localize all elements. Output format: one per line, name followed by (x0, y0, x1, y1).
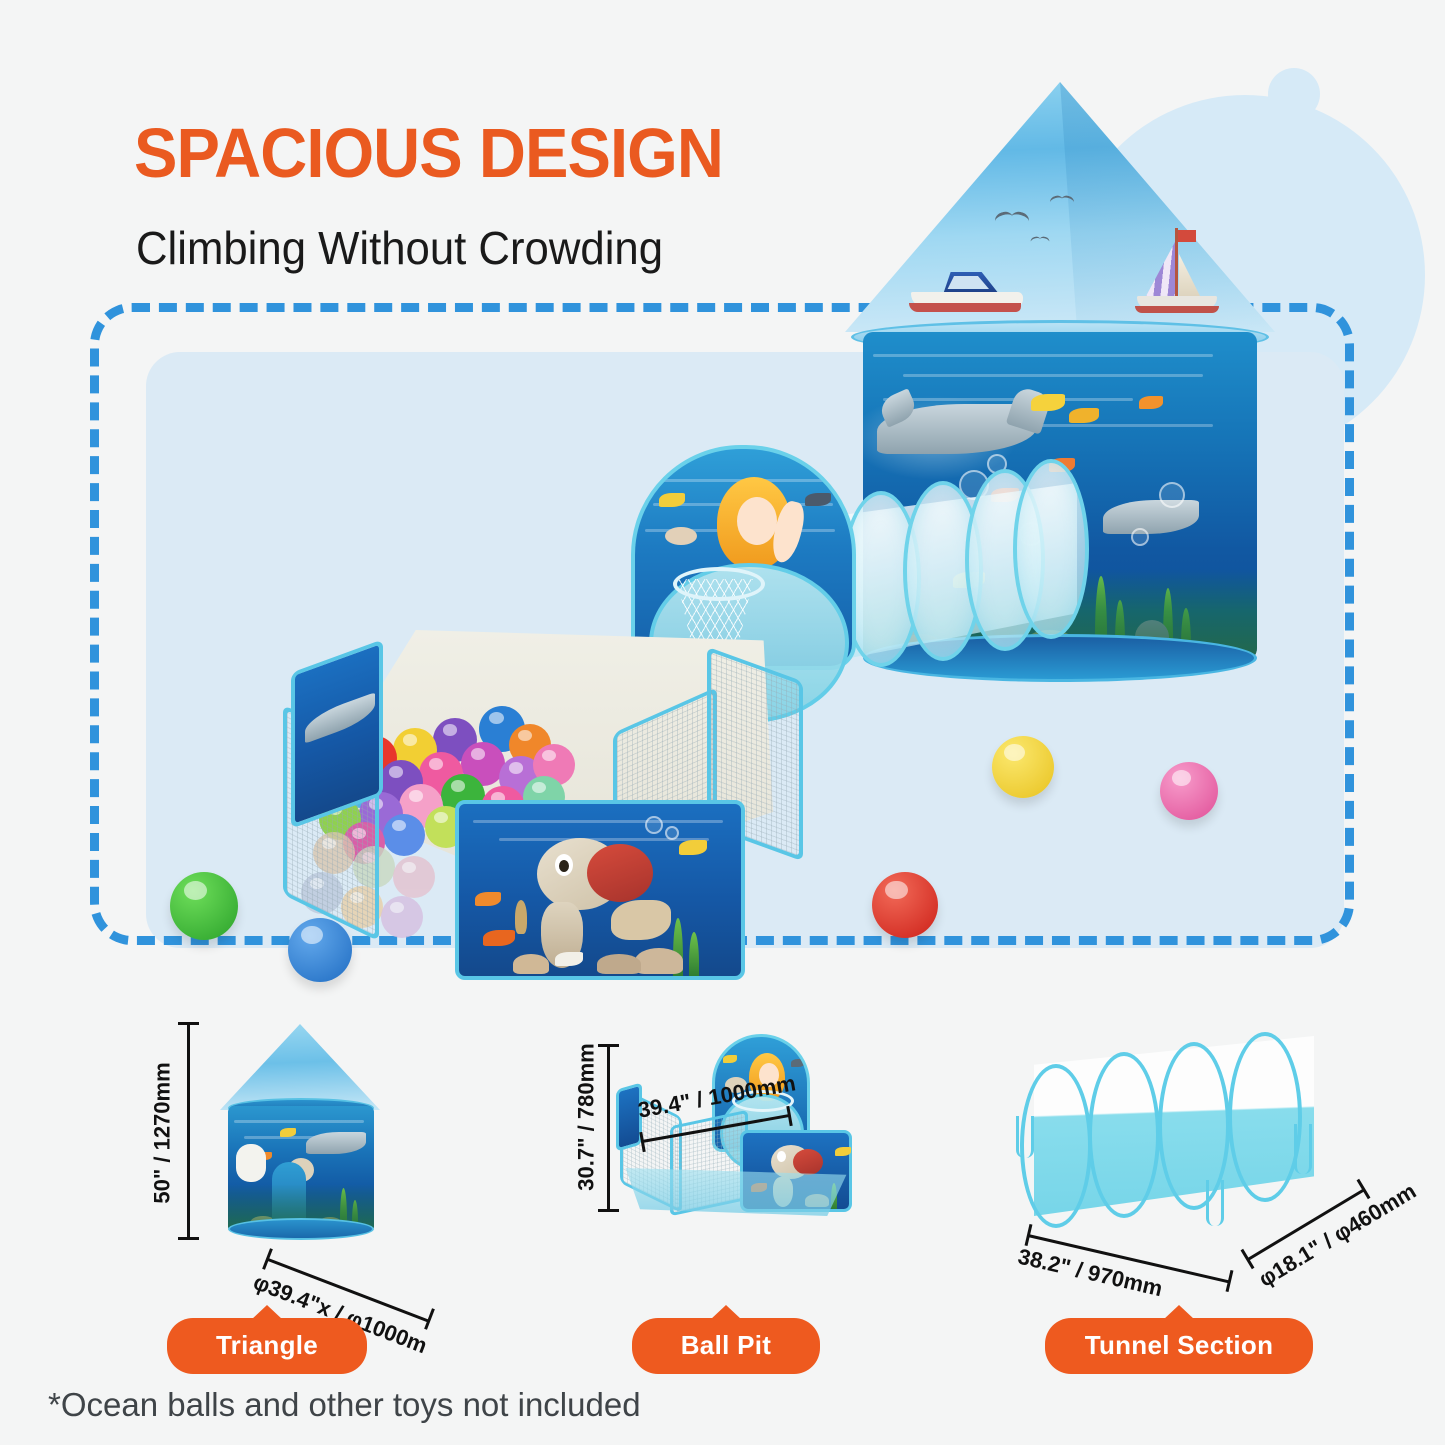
dolphin-icon (305, 692, 375, 743)
tunnel-tie-strap (1016, 1116, 1034, 1158)
tunnel-tie-strap (1294, 1124, 1312, 1174)
badge-notch-icon (251, 1305, 283, 1320)
badge-notch-icon (710, 1305, 742, 1320)
ball-pit-base (616, 1168, 856, 1216)
fish-icon (679, 840, 707, 855)
seagull-icon (1050, 196, 1074, 204)
seagull-icon (1031, 237, 1050, 244)
loose-ball-yellow (992, 736, 1054, 798)
tunnel-rib (1088, 1052, 1160, 1218)
fish-icon (791, 1059, 805, 1067)
ball-pit-turtle-panel (455, 800, 745, 980)
sailboat-icon (1133, 228, 1225, 320)
spec-triangle: 50" / 1270mm φ39.4"x / φ1000m (140, 1010, 470, 1310)
fish-icon (280, 1128, 296, 1137)
spec-ball-pit: 30.7" / 780mm 39.4" / (560, 1020, 900, 1300)
shark-icon (306, 1132, 366, 1154)
dim-line-vertical (607, 1044, 610, 1212)
infographic-page: SPACIOUS DESIGN Climbing Without Crowdin… (0, 0, 1445, 1445)
spec-tunnel: 38.2" / 970mm φ18.1" / φ460mm (1010, 1020, 1410, 1310)
tunnel-rib (1013, 459, 1089, 639)
fish-icon (723, 1055, 737, 1063)
fish-icon (1031, 394, 1065, 411)
badge-tunnel-section[interactable]: Tunnel Section (1045, 1318, 1313, 1374)
seahorse-icon (515, 900, 527, 934)
page-subtitle: Climbing Without Crowding (136, 225, 663, 271)
fish-icon (835, 1147, 851, 1156)
badge-label: Triangle (216, 1330, 318, 1360)
tunnel-rib (1228, 1032, 1302, 1202)
hero-ball-pit (283, 560, 883, 990)
turtle-icon (1103, 500, 1199, 534)
footnote-text: *Ocean balls and other toys not included (48, 1386, 641, 1424)
ball-pit-printed-wall (616, 1082, 642, 1151)
fish-icon (555, 952, 583, 966)
fish-icon (483, 930, 515, 946)
dim-label-height: 50" / 1270mm (150, 1062, 176, 1203)
badge-triangle[interactable]: Triangle (167, 1318, 367, 1374)
badge-label: Tunnel Section (1085, 1330, 1274, 1360)
badge-notch-icon (1163, 1305, 1195, 1320)
fish-icon (1139, 396, 1163, 409)
page-title: SPACIOUS DESIGN (134, 118, 723, 188)
fish-icon (805, 493, 831, 506)
turtle-icon (665, 527, 697, 545)
loose-ball-green (170, 872, 238, 940)
speedboat-icon (907, 270, 1027, 324)
loose-ball-pink (1160, 762, 1218, 820)
decorative-circle-small (1268, 68, 1320, 120)
fish-icon (475, 892, 501, 906)
dim-label-length: 38.2" / 970mm (1015, 1232, 1167, 1302)
loose-ball-red (872, 872, 938, 938)
badge-ball-pit[interactable]: Ball Pit (632, 1318, 820, 1374)
dim-label-height: 30.7" / 780mm (574, 1043, 600, 1190)
dim-line-vertical (187, 1022, 190, 1240)
badge-label: Ball Pit (681, 1330, 772, 1360)
fish-icon (659, 493, 685, 507)
tunnel-tie-strap (1206, 1180, 1224, 1226)
castle-body (228, 1106, 374, 1232)
seagull-icon (995, 212, 1029, 224)
fish-icon (1069, 408, 1099, 423)
loose-ball-blue (288, 918, 352, 982)
